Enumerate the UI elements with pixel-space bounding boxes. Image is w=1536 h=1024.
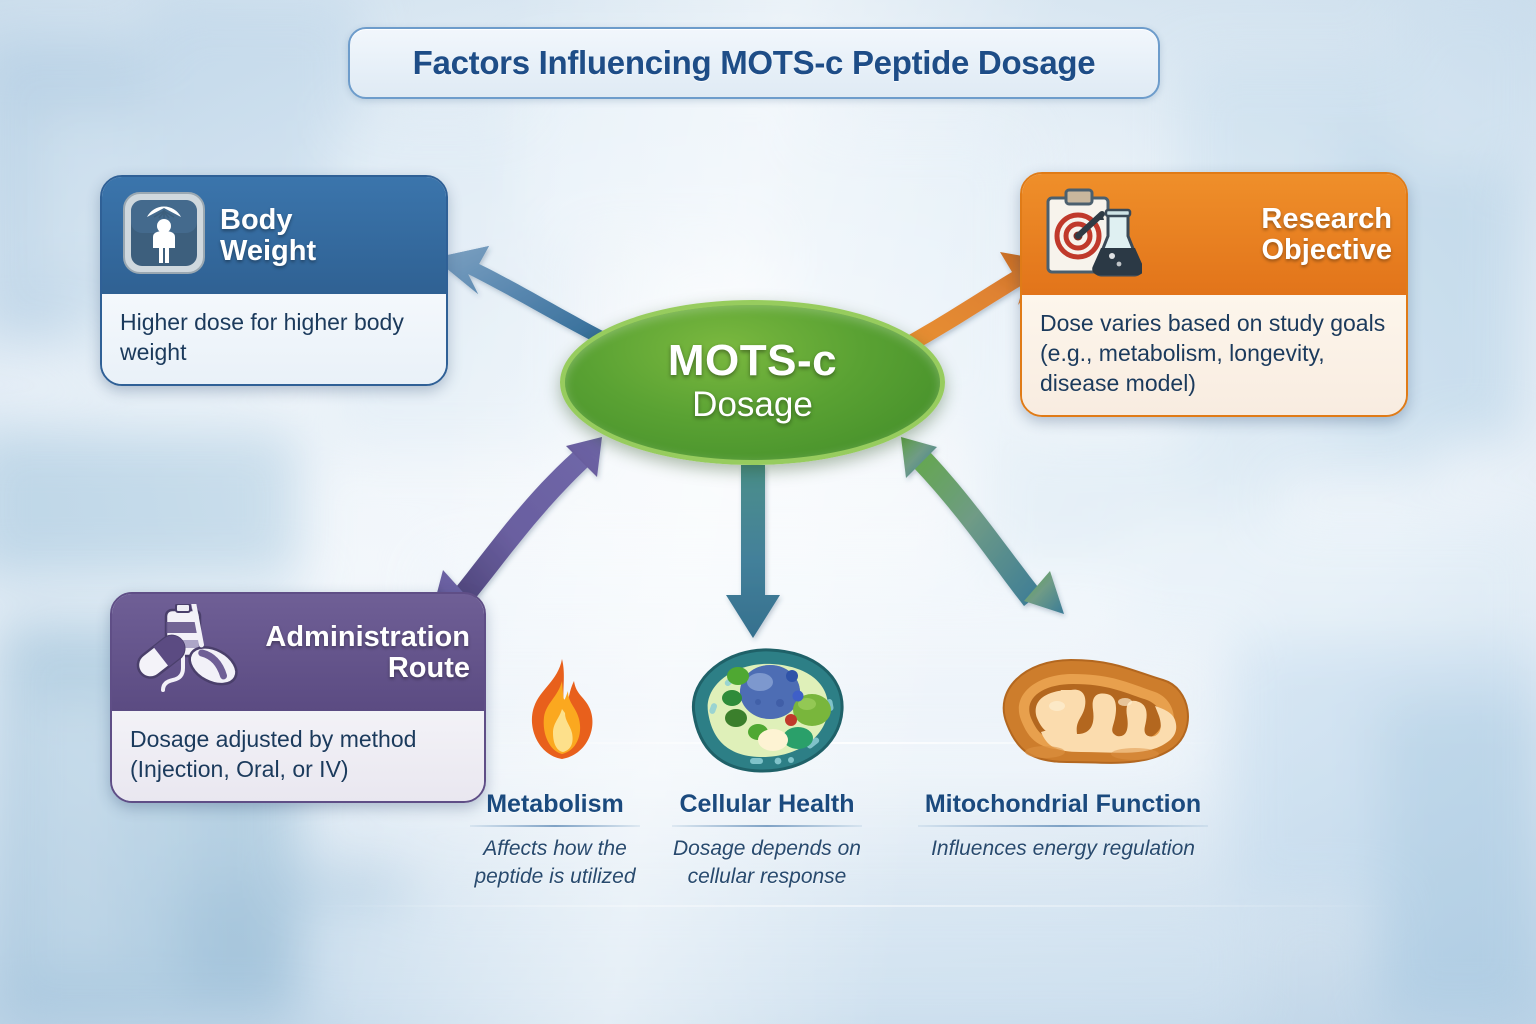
card-administration-route[interactable]: Administration Route Dosage adjusted by … (110, 592, 486, 803)
card-research-objective[interactable]: Research Objective Dose varies based on … (1020, 172, 1408, 417)
bottom-item-metabolism-description: Affects how the peptide is utilized (470, 835, 640, 890)
weighing-scale-icon (118, 187, 210, 284)
page-title-prefix: Factors Influencing (413, 44, 721, 81)
iv-pill-syringe-icon (128, 604, 240, 701)
bottom-item-mitochondrial-function-name: Mitochondrial Function (918, 790, 1208, 823)
bottom-item-cellular-health-rule (672, 825, 862, 827)
card-research-objective-description: Dose varies based on study goals (e.g., … (1022, 295, 1406, 415)
bottom-item-mitochondrial-function-description: Influences energy regulation (918, 835, 1208, 863)
card-administration-route-title: Administration Route (250, 622, 470, 682)
bottom-item-metabolism-name: Metabolism (470, 790, 640, 823)
bottom-item-cellular-health-description: Dosage depends on cellular response (672, 835, 862, 890)
flame-icon (512, 655, 612, 770)
bottom-item-mitochondrial-function[interactable]: Mitochondrial Function Influences energy… (918, 790, 1208, 863)
card-body-weight-header: Body Weight (102, 177, 446, 294)
card-body-weight-title: Body Weight (220, 205, 316, 265)
card-body-weight-description: Higher dose for higher body weight (102, 294, 446, 384)
bottom-item-cellular-health-name: Cellular Health (672, 790, 862, 823)
card-administration-route-header: Administration Route (112, 594, 484, 711)
bottom-item-metabolism-rule (470, 825, 640, 827)
mitochondrion-icon (985, 650, 1203, 777)
bottom-item-mitochondrial-function-rule (918, 825, 1208, 827)
bottom-item-cellular-health[interactable]: Cellular Health Dosage depends on cellul… (672, 790, 862, 890)
central-node-line1: MOTS-c (668, 339, 837, 383)
central-node-line2: Dosage (692, 385, 813, 425)
page-title: Factors Influencing MOTS-c Peptide Dosag… (413, 44, 1096, 82)
cell-icon (672, 640, 852, 785)
card-administration-route-description: Dosage adjusted by method (Injection, Or… (112, 711, 484, 801)
shelf-line-lower (300, 905, 1400, 907)
bottom-item-metabolism[interactable]: Metabolism Affects how the peptide is ut… (470, 790, 640, 890)
page-title-emphasis: MOTS-c Peptide Dosage (720, 44, 1095, 81)
clipboard-target-flask-icon (1038, 184, 1142, 285)
page-title-banner: Factors Influencing MOTS-c Peptide Dosag… (348, 27, 1160, 99)
central-node-mots-c-dosage[interactable]: MOTS-c Dosage (560, 300, 945, 465)
card-body-weight[interactable]: Body Weight Higher dose for higher body … (100, 175, 448, 386)
card-research-objective-header: Research Objective (1022, 174, 1406, 295)
card-research-objective-title: Research Objective (1152, 204, 1392, 264)
